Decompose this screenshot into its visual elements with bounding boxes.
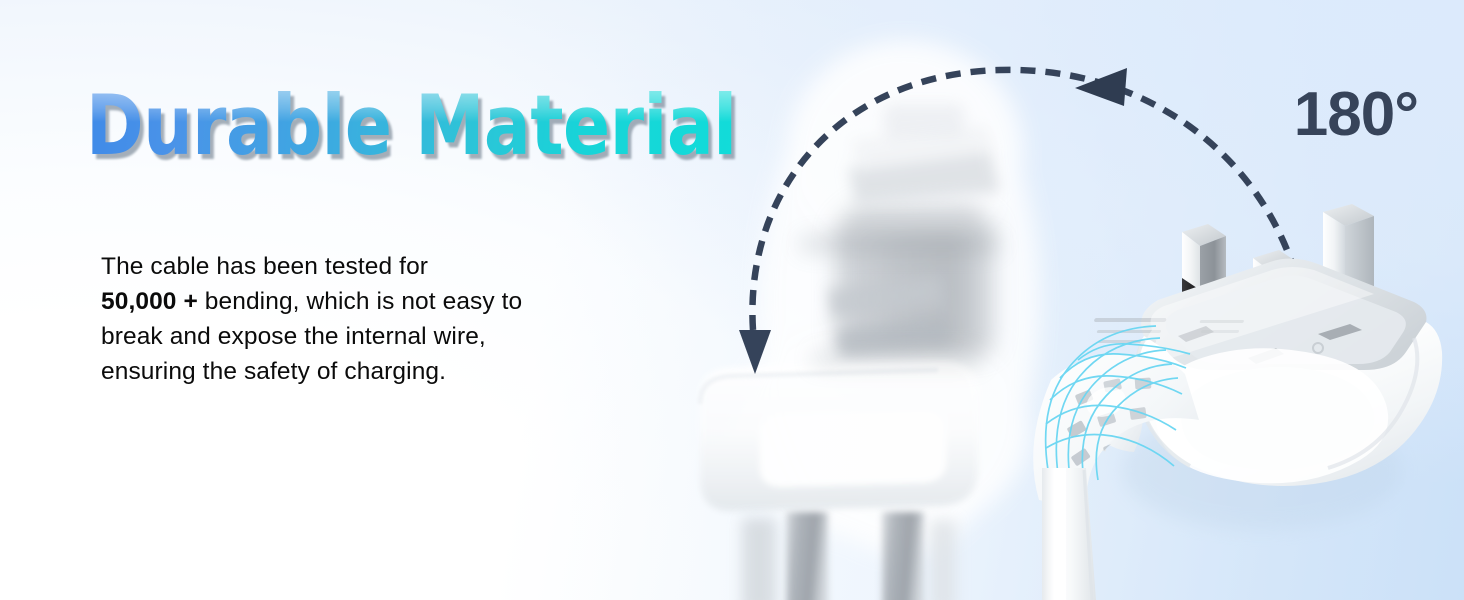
page-title-fill: Durable Material xyxy=(86,77,737,174)
body-line-2-tail: bending, which is not easy to xyxy=(198,288,522,315)
product-banner: Durable Material Durable Material Durabl… xyxy=(0,0,1464,600)
body-line-1: The cable has been tested for xyxy=(101,253,428,280)
body-copy: The cable has been tested for 50,000 + b… xyxy=(101,249,661,389)
body-line-4: ensuring the safety of charging. xyxy=(101,358,446,385)
body-line-3: break and expose the internal wire, xyxy=(101,323,486,350)
charging-cable xyxy=(1042,468,1096,600)
angle-label: 180° xyxy=(1294,84,1418,146)
bend-count-value: 50,000 + xyxy=(101,288,198,315)
page-title: Durable Material Durable Material Durabl… xyxy=(86,84,737,167)
